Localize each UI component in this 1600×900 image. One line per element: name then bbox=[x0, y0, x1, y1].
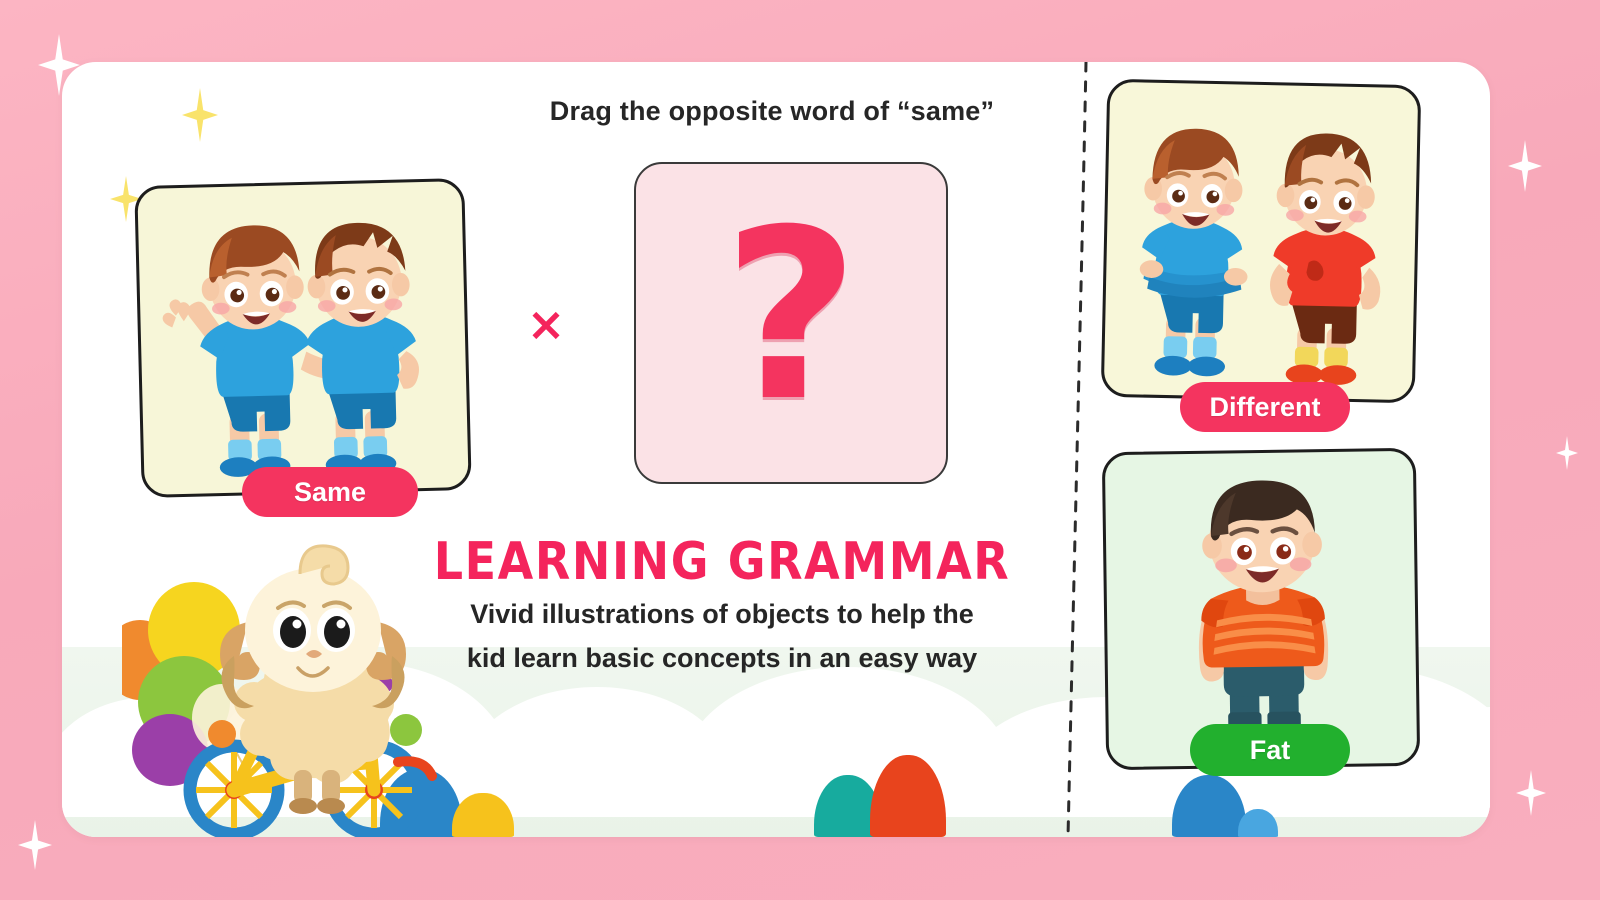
lesson-board: Drag the opposite word of “same” bbox=[62, 62, 1490, 837]
label-pill-same[interactable]: Same bbox=[242, 467, 418, 517]
question-mark-icon: ? bbox=[723, 199, 859, 434]
illustration-two-identical-boys bbox=[137, 181, 468, 495]
picture-card-same[interactable] bbox=[134, 178, 472, 498]
label-pill-fat[interactable]: Fat bbox=[1190, 724, 1350, 776]
picture-card-same-image bbox=[137, 181, 468, 495]
illustration-two-different-boys bbox=[1104, 82, 1418, 400]
picture-card-different-image bbox=[1104, 82, 1418, 400]
mascot-sheep-on-tricycle bbox=[122, 512, 522, 837]
instruction-text: Drag the opposite word of “same” bbox=[442, 96, 1102, 127]
answer-dropzone[interactable]: ? bbox=[634, 162, 948, 484]
sparkle-icon-inner-1 bbox=[182, 88, 218, 142]
picture-card-different[interactable] bbox=[1101, 79, 1422, 404]
picture-card-fat-image bbox=[1105, 451, 1417, 767]
label-pill-different[interactable]: Different bbox=[1180, 382, 1350, 432]
opposite-times-icon: × bbox=[520, 298, 572, 350]
picture-card-fat[interactable] bbox=[1102, 448, 1420, 770]
illustration-chubby-boy bbox=[1105, 451, 1417, 767]
